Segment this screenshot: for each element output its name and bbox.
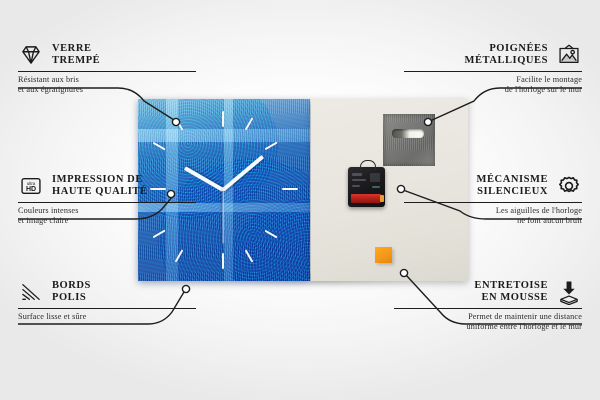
feature-divider	[18, 308, 196, 309]
feature-desc-line2: de l'horloge sur le mur	[382, 85, 582, 95]
feature-bords-polis[interactable]: BORDS POLIS Surface lisse et sûre	[18, 279, 218, 322]
hanger-plate	[383, 114, 435, 166]
feature-title-line2: HAUTE QUALITÉ	[52, 186, 148, 199]
feature-title-line2: SILENCIEUX	[477, 186, 548, 199]
feature-mecanisme-silencieux[interactable]: MÉCANISME SILENCIEUX Les aiguilles de l'…	[382, 173, 582, 226]
svg-text:ultra: ultra	[27, 181, 36, 186]
feature-title-line1: BORDS	[52, 280, 91, 293]
foam-spacer-icon	[556, 279, 582, 305]
feature-header: BORDS POLIS	[18, 279, 218, 305]
gear-icon	[556, 173, 582, 199]
feature-divider	[404, 71, 582, 72]
feature-header: ENTRETOISE EN MOUSSE	[372, 279, 582, 305]
clock-mechanism	[348, 167, 385, 207]
clock-center-pin	[222, 187, 226, 191]
feature-title-line1: POIGNÉES	[465, 43, 548, 56]
feature-divider	[394, 308, 582, 309]
feature-desc-line1: Surface lisse et sûre	[18, 312, 218, 322]
feature-divider	[18, 71, 196, 72]
feature-title-line2: POLIS	[52, 292, 91, 305]
feature-verre-trempe[interactable]: VERRE TREMPÉ Résistant aux bris et aux é…	[18, 42, 218, 95]
clock-second-hand	[222, 190, 223, 244]
feature-impression-haute-qualite[interactable]: ultra HD IMPRESSION DE HAUTE QUALITÉ Cou…	[18, 173, 218, 226]
feature-divider	[18, 202, 196, 203]
feature-desc-line2: uniforme entre l'horloge et le mur	[372, 322, 582, 332]
feature-title-line1: VERRE	[52, 43, 100, 56]
feature-title-line1: IMPRESSION DE	[52, 174, 148, 187]
feature-title-line2: EN MOUSSE	[474, 292, 548, 305]
feature-header: ultra HD IMPRESSION DE HAUTE QUALITÉ	[18, 173, 218, 199]
diamond-icon	[18, 42, 44, 68]
feature-header: VERRE TREMPÉ	[18, 42, 218, 68]
battery	[351, 194, 381, 203]
ultra-hd-icon: ultra HD	[18, 173, 44, 199]
feature-desc-line1: Les aiguilles de l'horloge	[382, 206, 582, 216]
feature-desc-line1: Permet de maintenir une distance	[372, 312, 582, 322]
feature-desc-line1: Résistant aux bris	[18, 75, 218, 85]
feature-title-line2: TREMPÉ	[52, 55, 100, 68]
feature-desc-line2: ne font aucun bruit	[382, 216, 582, 226]
feature-header: MÉCANISME SILENCIEUX	[382, 173, 582, 199]
keyhole-slot	[392, 129, 424, 138]
feature-poignees-metalliques[interactable]: POIGNÉES MÉTALLIQUES Facilite le montage…	[382, 42, 582, 95]
feature-header: POIGNÉES MÉTALLIQUES	[382, 42, 582, 68]
infographic-canvas: VERRE TREMPÉ Résistant aux bris et aux é…	[0, 0, 600, 400]
polished-edge-icon	[18, 279, 44, 305]
mechanism-hanger-loop	[360, 160, 376, 171]
feature-desc-line1: Couleurs intenses	[18, 206, 218, 216]
feature-divider	[404, 202, 582, 203]
feature-title-line1: ENTRETOISE	[474, 280, 548, 293]
feature-desc-line1: Facilite le montage	[382, 75, 582, 85]
feature-title-line2: MÉTALLIQUES	[465, 55, 548, 68]
feature-title-line1: MÉCANISME	[477, 174, 548, 187]
svg-text:HD: HD	[26, 186, 36, 193]
feature-entretoise-en-mousse[interactable]: ENTRETOISE EN MOUSSE Permet de maintenir…	[372, 279, 582, 332]
feature-desc-line2: et aux égratignures	[18, 85, 218, 95]
foam-spacer	[375, 247, 392, 263]
feature-desc-line2: et image claire	[18, 216, 218, 226]
picture-frame-hanger-icon	[556, 42, 582, 68]
